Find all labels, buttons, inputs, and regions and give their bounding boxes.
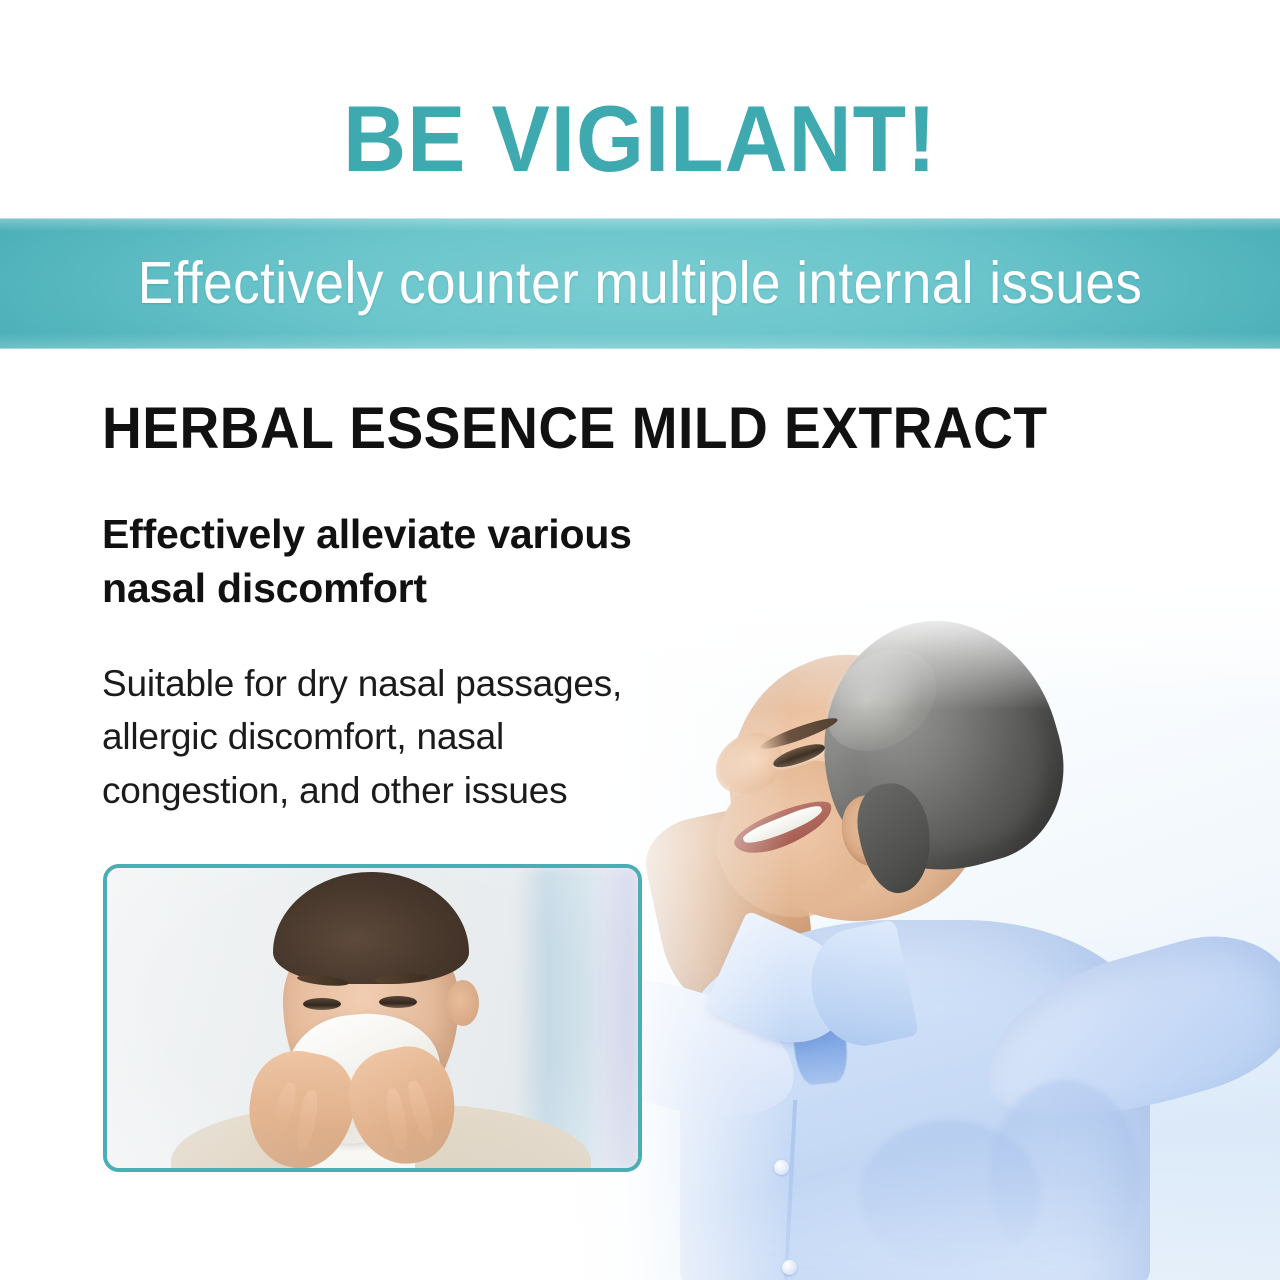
inset-photo-man-blowing-nose [103, 864, 642, 1172]
usage-description-line-2: allergic discomfort, nasal [102, 710, 802, 764]
content-block: HERBAL ESSENCE MILD EXTRACT Effectively … [102, 398, 802, 818]
page-title: BE VIGILANT! [45, 92, 1235, 186]
benefit-subheading-line-2: nasal discomfort [102, 561, 802, 615]
benefit-subheading-line-1: Effectively alleviate various [102, 507, 802, 561]
subtitle-banner-text: Effectively counter multiple internal is… [138, 254, 1143, 313]
inset-eye-left [303, 998, 341, 1010]
usage-description: Suitable for dry nasal passages, allergi… [102, 615, 802, 818]
hero-shirt-fold [990, 1080, 1140, 1270]
inset-curtain-edge [594, 868, 638, 1168]
subtitle-banner: Effectively counter multiple internal is… [0, 218, 1280, 349]
usage-description-line-1: Suitable for dry nasal passages, [102, 657, 802, 711]
benefit-subheading: Effectively alleviate various nasal disc… [102, 461, 802, 615]
inset-eye-right [379, 996, 417, 1008]
promo-page: BE VIGILANT! Effectively counter multipl… [0, 0, 1280, 1280]
usage-description-line-3: congestion, and other issues [102, 764, 802, 818]
inset-ear [447, 980, 479, 1026]
product-heading: HERBAL ESSENCE MILD EXTRACT [102, 398, 767, 461]
